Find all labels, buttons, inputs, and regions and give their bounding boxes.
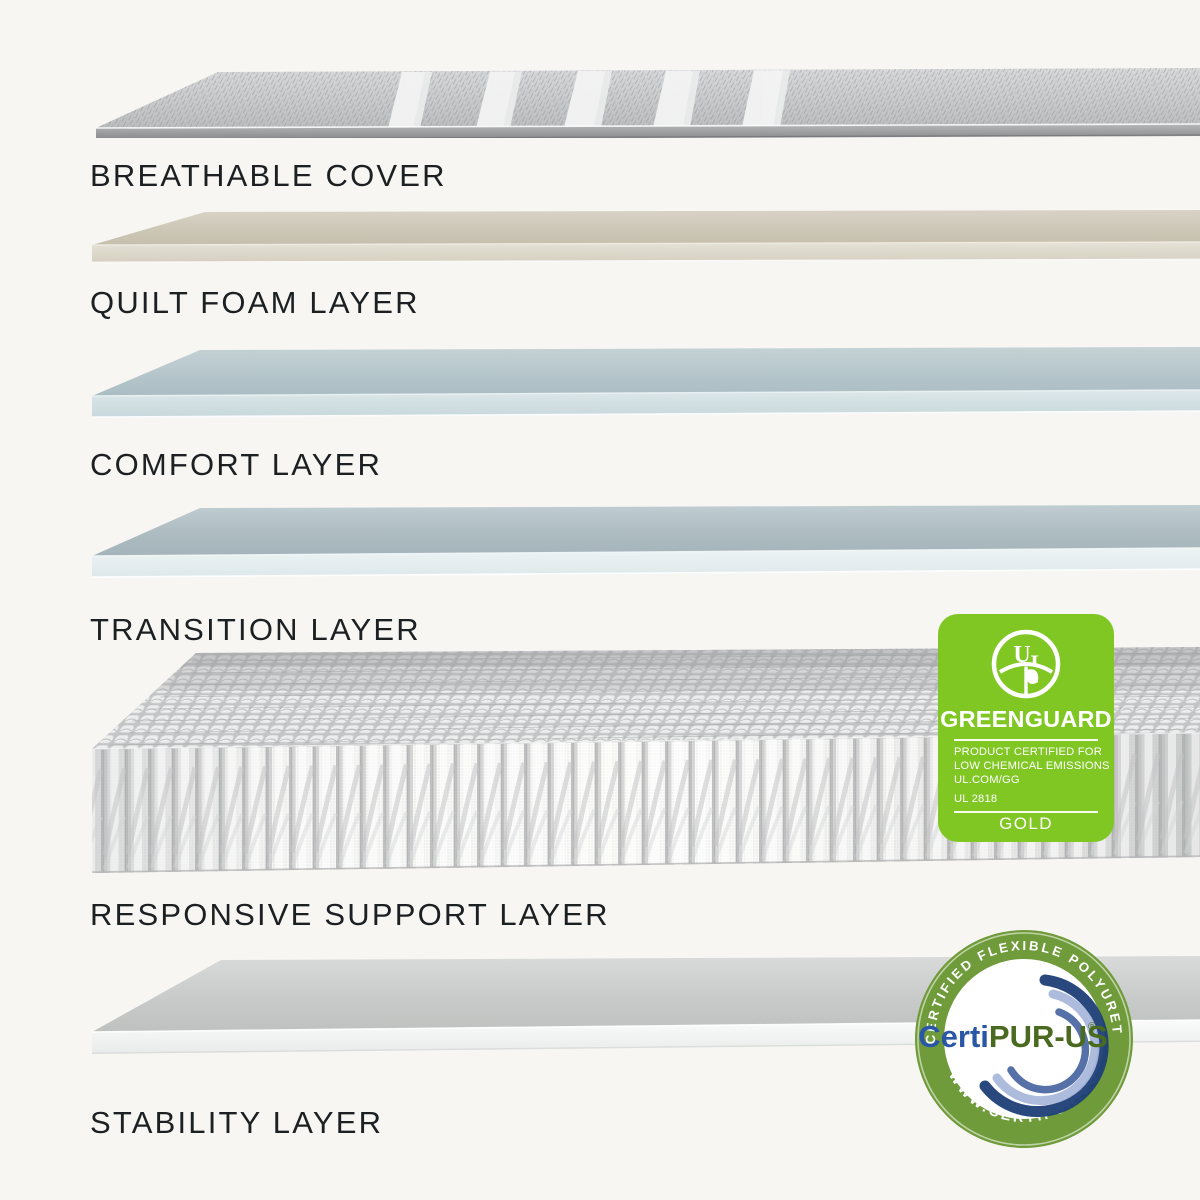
certipur-us-badge: CONTAINS CERTIFIED FLEXIBLE POLYURETHANE… xyxy=(913,928,1135,1150)
greenguard-standard: UL 2818 xyxy=(954,792,1104,806)
label-quilt-foam-layer: QUILT FOAM LAYER xyxy=(90,285,420,321)
greenguard-name: GREENGUARD xyxy=(938,706,1114,733)
label-stability-layer: STABILITY LAYER xyxy=(90,1105,383,1141)
label-comfort-layer: COMFORT LAYER xyxy=(90,447,382,483)
certipur-wordmark: CertiPUR-US xyxy=(918,1019,1107,1054)
greenguard-line-1: PRODUCT CERTIFIED FOR xyxy=(954,745,1104,759)
label-breathable-cover: BREATHABLE COVER xyxy=(90,158,447,194)
label-transition-layer: TRANSITION LAYER xyxy=(90,612,421,648)
greenguard-line-2: LOW CHEMICAL EMISSIONS xyxy=(954,759,1104,773)
layer-transition xyxy=(0,498,1200,598)
ul-greenguard-mark: U L xyxy=(990,628,1062,700)
greenguard-certification-text: PRODUCT CERTIFIED FOR LOW CHEMICAL EMISS… xyxy=(954,745,1104,806)
layer-comfort xyxy=(0,338,1200,438)
greenguard-divider-bottom xyxy=(954,811,1098,813)
mattress-diagram: BREATHABLE COVER QUILT FOAM LAYER xyxy=(0,0,1200,1200)
greenguard-divider-top xyxy=(954,739,1098,741)
greenguard-line-3: UL.COM/GG xyxy=(954,773,1104,787)
label-responsive-support-layer: RESPONSIVE SUPPORT LAYER xyxy=(90,897,610,933)
greenguard-badge: U L GREENGUARD PRODUCT CERTIFIED FOR LOW… xyxy=(938,614,1114,842)
layer-quilt-foam xyxy=(0,198,1200,278)
greenguard-level: GOLD xyxy=(938,814,1114,834)
certipur-registered-mark: ® xyxy=(1088,1021,1096,1033)
layer-breathable-cover xyxy=(0,28,1200,138)
